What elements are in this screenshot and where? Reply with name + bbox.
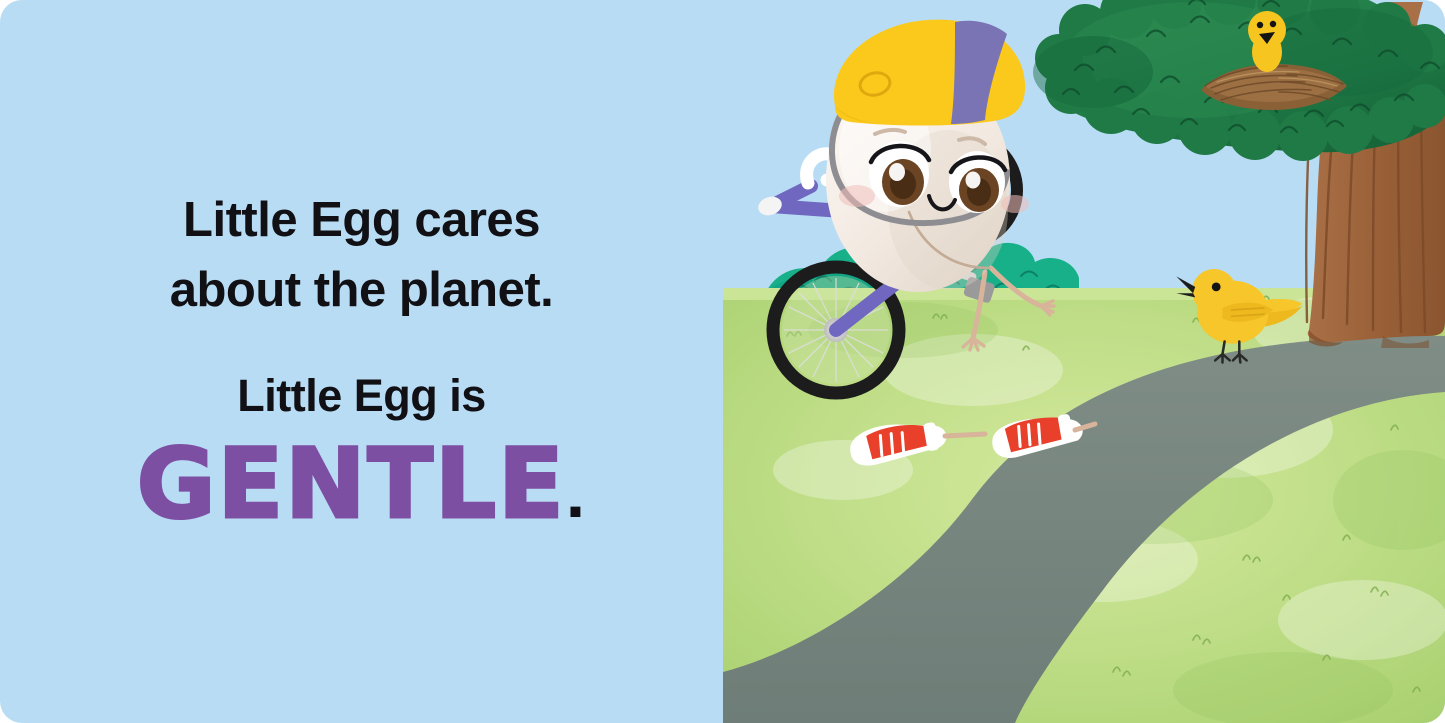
story-emphasis-line: GENTLE.	[0, 428, 723, 540]
illustration-svg	[723, 0, 1445, 723]
emphasis-word: GENTLE	[137, 428, 566, 540]
text-page: Little Egg cares about the planet. Littl…	[0, 0, 723, 723]
story-line-2: about the planet.	[0, 262, 723, 318]
illustration-page	[723, 0, 1445, 723]
story-line-3: Little Egg is	[0, 370, 723, 422]
book-spread-image: Little Egg cares about the planet. Littl…	[0, 0, 1445, 723]
emphasis-period: .	[566, 454, 586, 532]
book-spread: Little Egg cares about the planet. Littl…	[0, 0, 1445, 723]
story-line-1: Little Egg cares	[0, 192, 723, 248]
